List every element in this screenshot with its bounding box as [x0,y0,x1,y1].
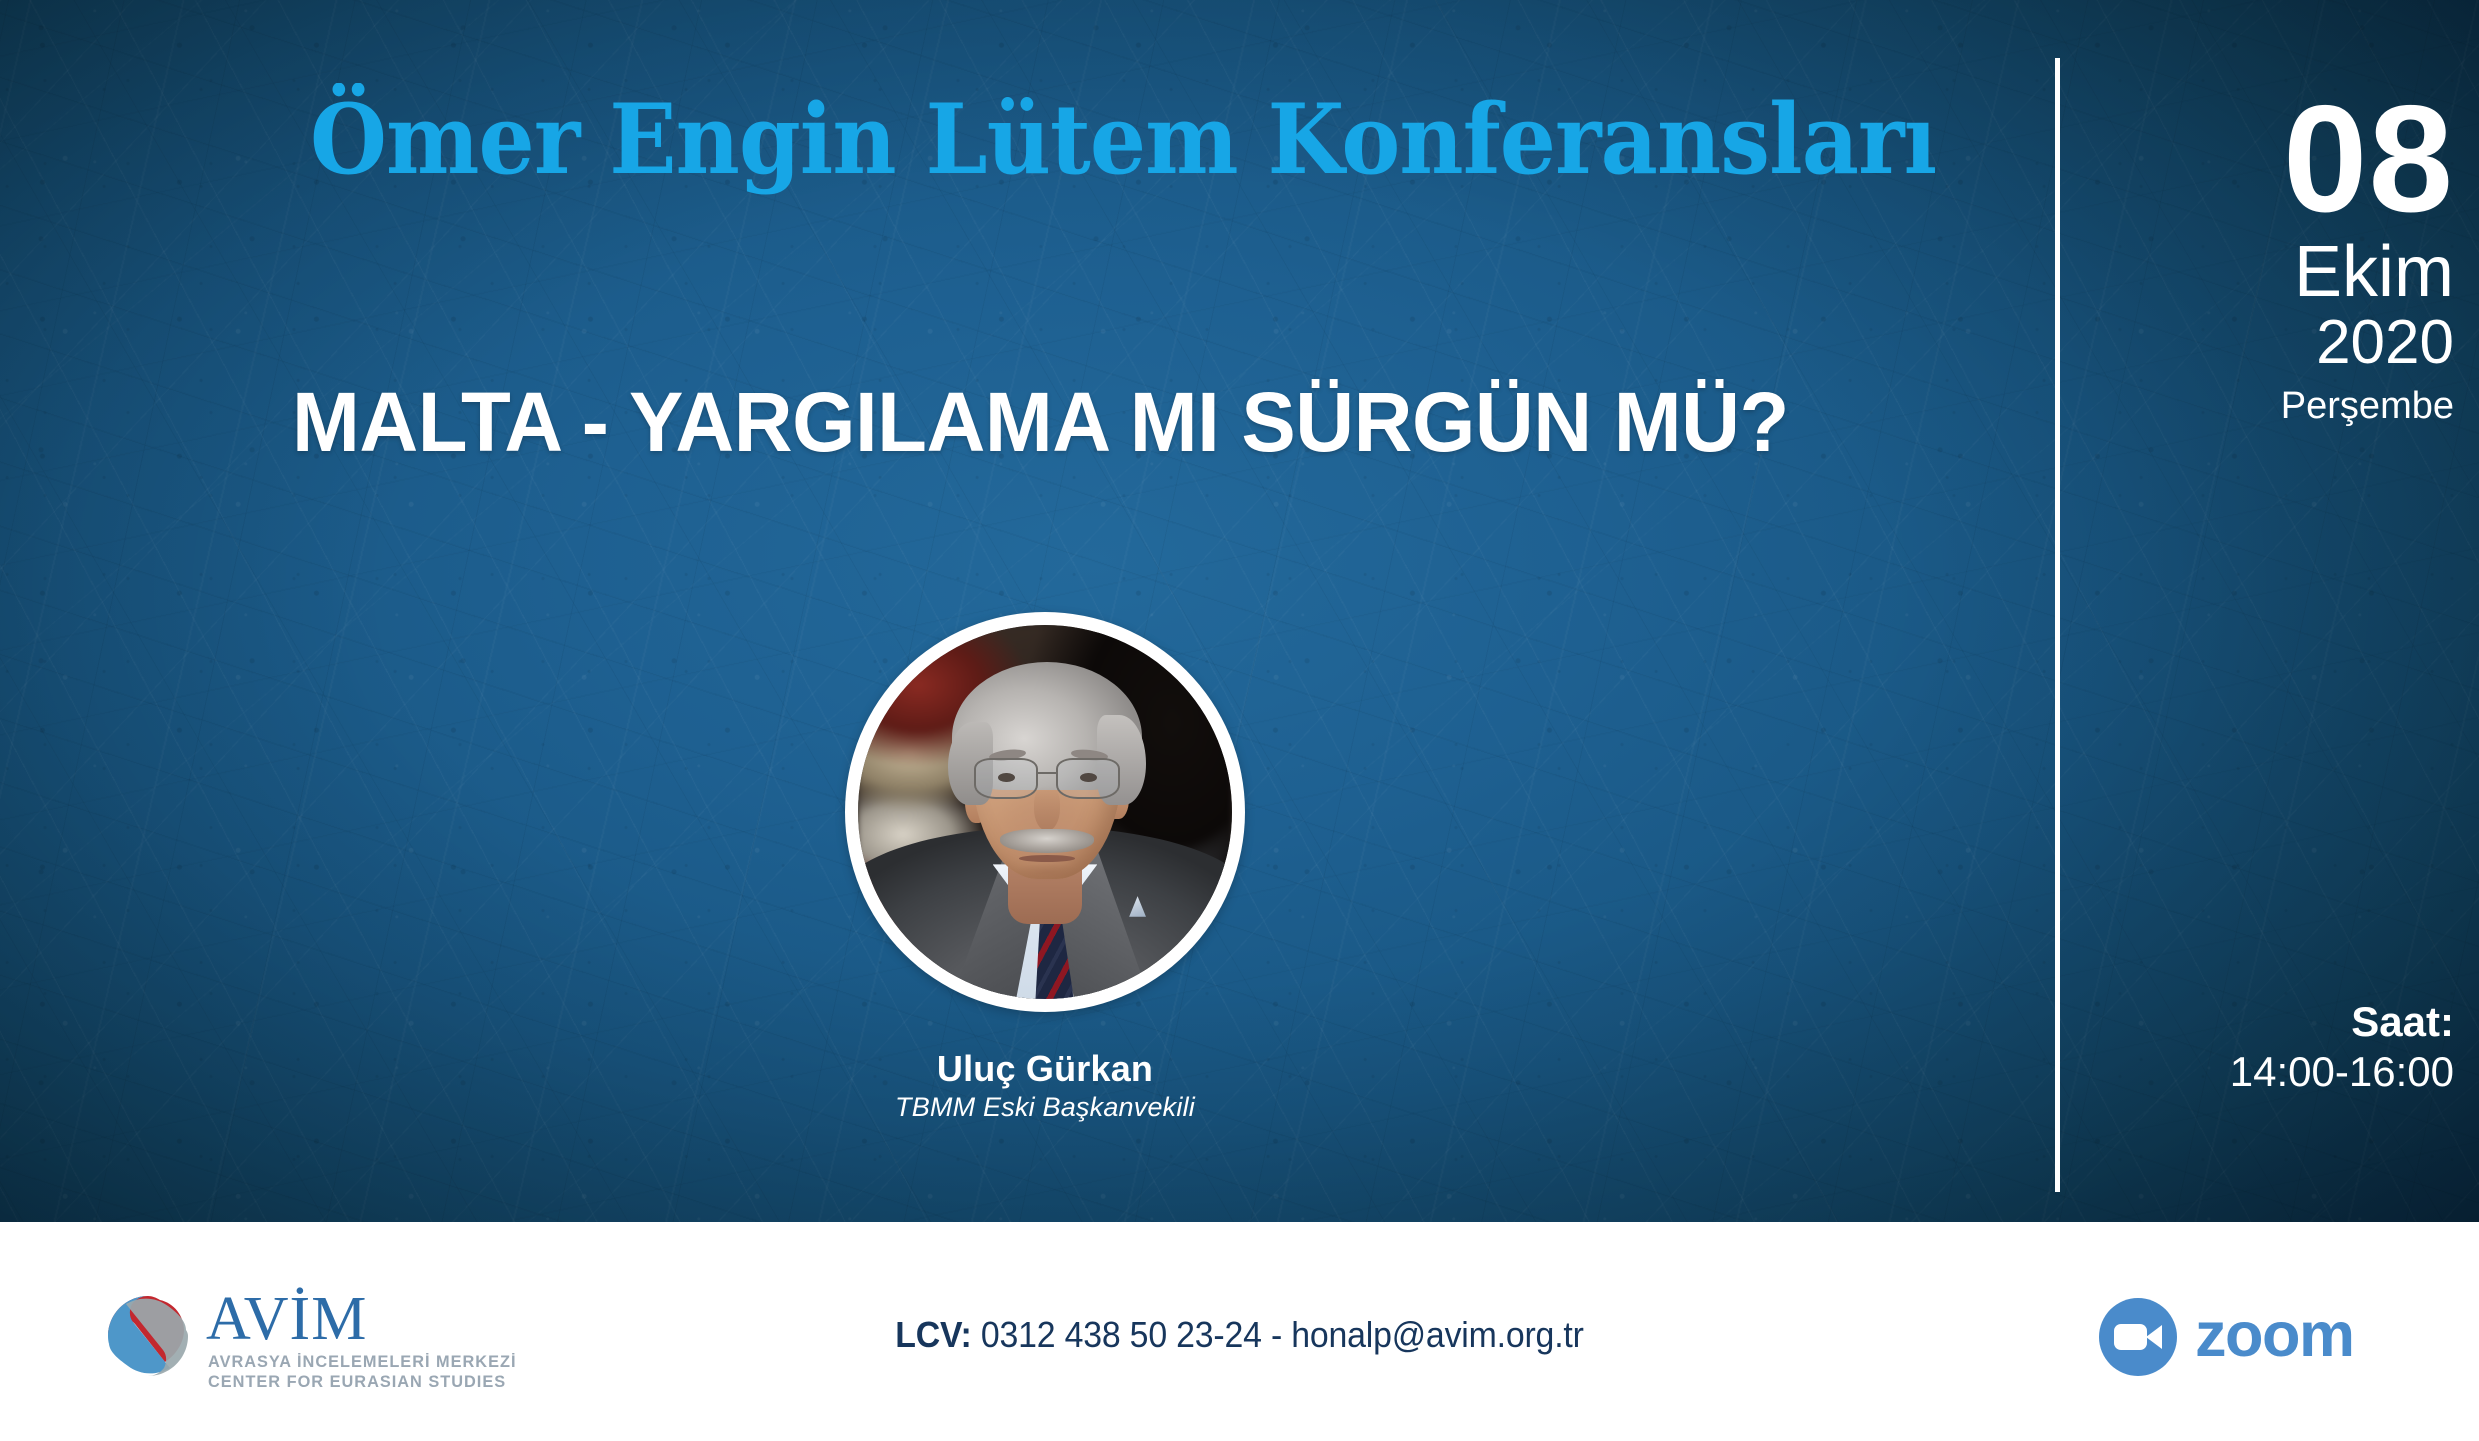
eyeglass-lens-left [974,758,1038,799]
portrait-mustache [1000,829,1094,853]
time-label: Saat: [2024,998,2454,1045]
portrait-mouth [1019,855,1075,862]
zoom-camera-lens [2146,1325,2162,1349]
speaker-role: TBMM Eski Başkanvekili [645,1092,1445,1123]
rsvp-value: 0312 438 50 23-24 - honalp@avim.org.tr [972,1314,1584,1355]
time-block: Saat: 14:00-16:00 [2024,998,2454,1097]
zoom-wordmark: zoom [2195,1304,2353,1367]
conference-series-title: Ömer Engin Lütem Konferansları [310,92,1745,188]
speaker-portrait [858,625,1232,999]
zoom-camera-body [2114,1324,2147,1350]
rsvp-contact-line: LCV: 0312 438 50 23-24 - honalp@avim.org… [74,1314,2404,1356]
date-weekday: Perşembe [2024,386,2454,428]
date-day: 08 [2024,90,2454,230]
eyeglass-lens-right [1056,758,1120,799]
time-value: 14:00-16:00 [2024,1047,2454,1097]
zoom-platform-logo: zoom [2099,1296,2379,1386]
portrait-chin-shadow [1000,864,1094,890]
speaker-name: Uluç Gürkan [645,1048,1445,1090]
speaker-photo-frame [845,612,1245,1012]
rsvp-label: LCV: [895,1314,971,1355]
portrait-nose [1034,786,1060,831]
event-poster: Ömer Engin Lütem Konferansları MALTA - Y… [0,0,2479,1441]
zoom-camera-icon [2099,1298,2177,1376]
eyeglass-bridge [1038,772,1056,775]
event-headline: MALTA - YARGILAMA MI SÜRGÜN MÜ? [292,380,1863,464]
avim-subtitle-en: CENTER FOR EURASIAN STUDIES [208,1373,506,1392]
date-year: 2020 [2024,311,2454,375]
date-block: 08 Ekim 2020 Perşembe [2024,90,2454,428]
date-month: Ekim [2024,236,2454,309]
